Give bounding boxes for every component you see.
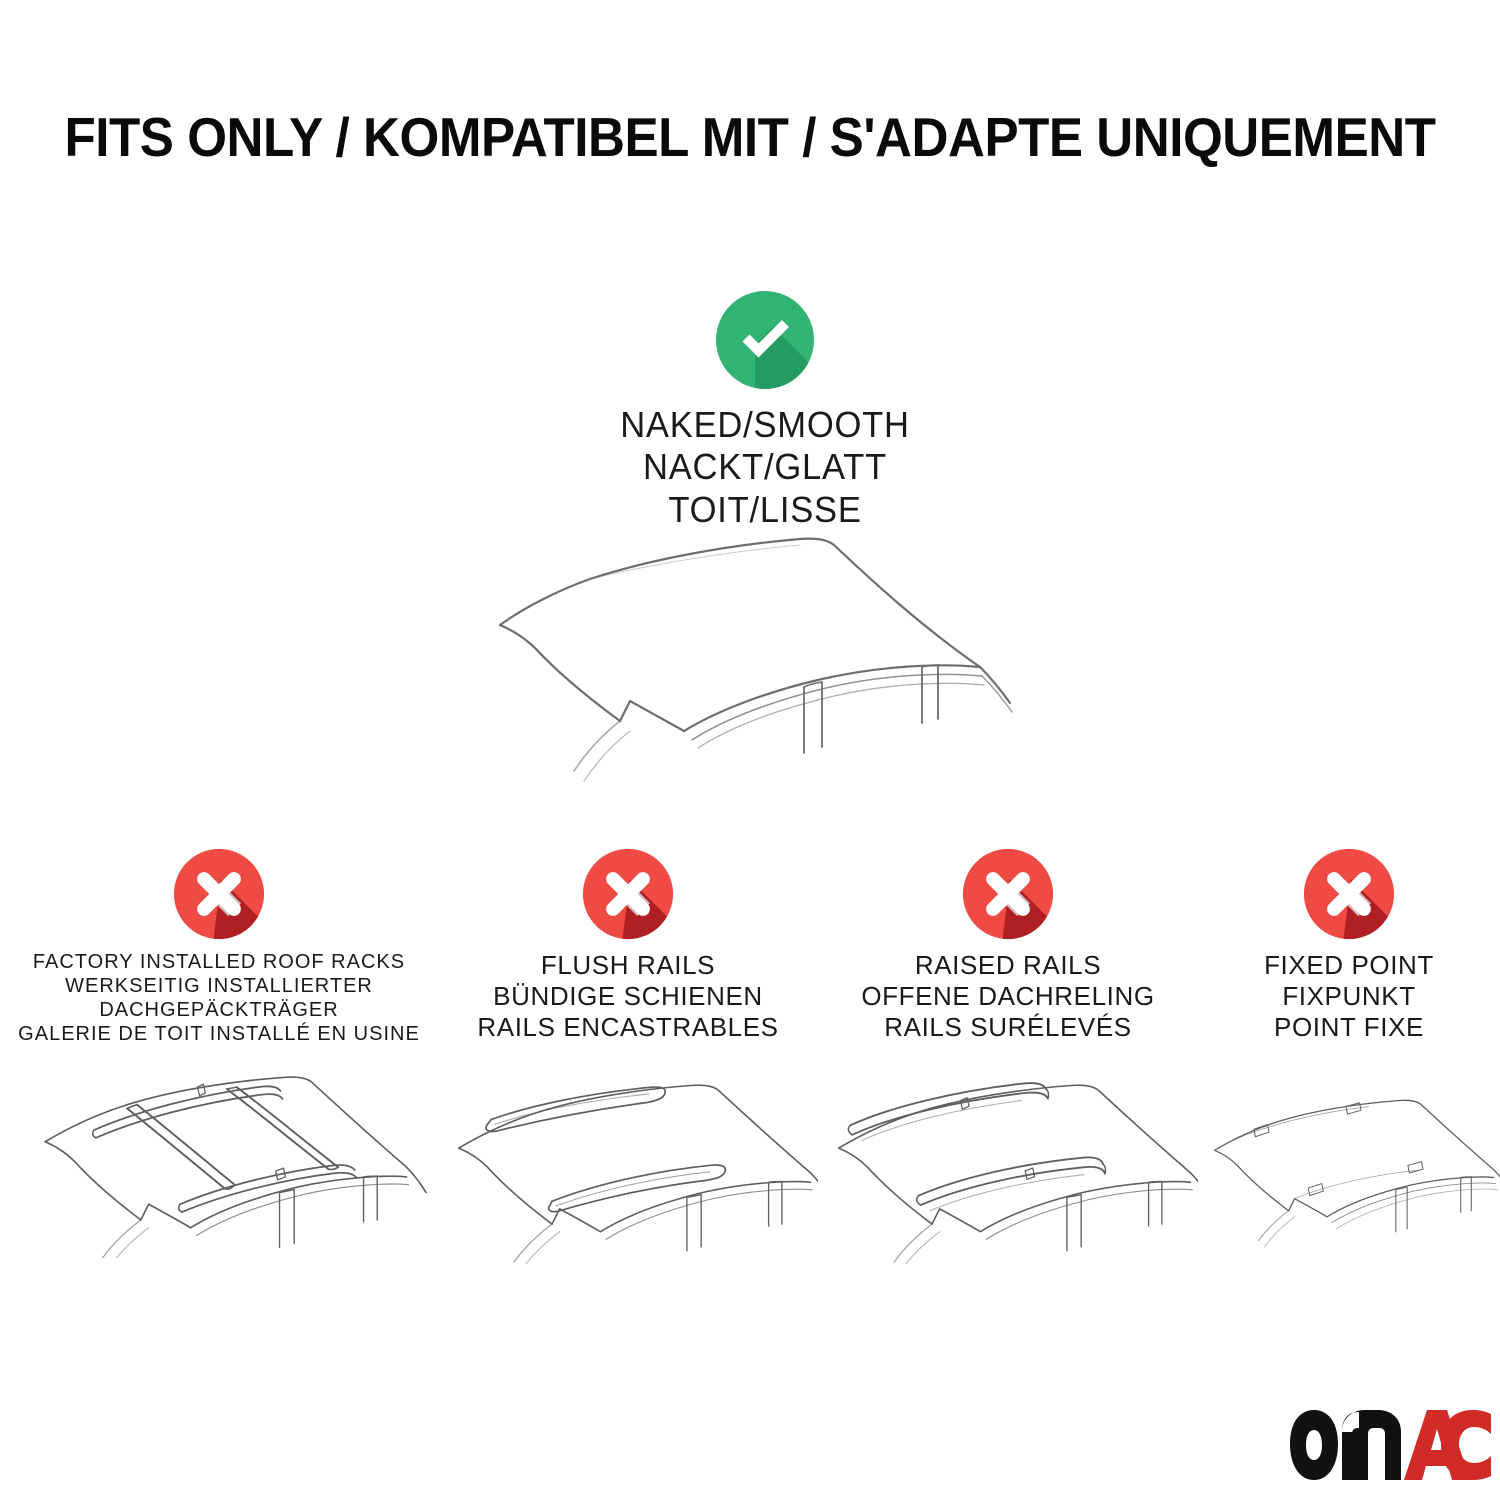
- cross-circle-icon: [173, 848, 265, 940]
- car-roof-flush-rails-illustration: [438, 1054, 818, 1264]
- compatible-roof-type: NAKED/SMOOTH NACKT/GLATT TOIT/LISSE: [450, 290, 1080, 531]
- car-roof-fixed-point-illustration: [1198, 1054, 1500, 1264]
- compatible-label-line-2: NACKT/GLATT: [463, 446, 1068, 488]
- label-line-3: POINT FIXE: [1198, 1012, 1500, 1043]
- cross-circle-icon: [962, 848, 1054, 940]
- logo-letter-o: [1290, 1410, 1338, 1480]
- label-line-2: BÜNDIGE SCHIENEN: [438, 981, 818, 1012]
- label-line-1: FLUSH RAILS: [438, 950, 818, 981]
- cross-circle-icon: [582, 848, 674, 940]
- label-line-3: RAILS SURÉLEVÉS: [818, 1012, 1198, 1043]
- compatible-label: NAKED/SMOOTH NACKT/GLATT TOIT/LISSE: [463, 404, 1068, 531]
- label-line-3: DACHGEPÄCKTRÄGER: [0, 998, 438, 1022]
- label-line-1: FIXED POINT: [1198, 950, 1500, 981]
- incompatible-label-flush-rails: FLUSH RAILS BÜNDIGE SCHIENEN RAILS ENCAS…: [438, 950, 818, 1044]
- car-roof-factory-rack-illustration: [0, 1048, 438, 1258]
- label-line-1: RAISED RAILS: [818, 950, 1198, 981]
- label-line-1: FACTORY INSTALLED ROOF RACKS: [0, 950, 438, 974]
- logo-letter-c: [1441, 1410, 1491, 1480]
- label-line-2: OFFENE DACHRELING: [818, 981, 1198, 1012]
- page-title: FITS ONLY / KOMPATIBEL MIT / S'ADAPTE UN…: [53, 105, 1448, 169]
- incompatible-item-raised-rails: RAISED RAILS OFFENE DACHRELING RAILS SUR…: [818, 848, 1198, 1044]
- car-roof-raised-rails-illustration: [818, 1054, 1198, 1264]
- compatible-label-line-1: NAKED/SMOOTH: [463, 404, 1068, 446]
- incompatible-item-flush-rails: FLUSH RAILS BÜNDIGE SCHIENEN RAILS ENCAS…: [438, 848, 818, 1044]
- label-line-2: FIXPUNKT: [1198, 981, 1500, 1012]
- label-line-4: GALERIE DE TOIT INSTALLÉ EN USINE: [0, 1022, 438, 1046]
- incompatible-item-factory-rack: FACTORY INSTALLED ROOF RACKS WERKSEITIG …: [0, 848, 438, 1046]
- logo-letter-m: [1342, 1410, 1401, 1480]
- label-line-3: RAILS ENCASTRABLES: [438, 1012, 818, 1043]
- omac-logo: [1288, 1406, 1493, 1484]
- fitment-infographic: FITS ONLY / KOMPATIBEL MIT / S'ADAPTE UN…: [0, 0, 1500, 1500]
- car-roof-naked-smooth-illustration: [470, 515, 1050, 805]
- incompatible-label-factory-rack: FACTORY INSTALLED ROOF RACKS WERKSEITIG …: [0, 950, 438, 1046]
- incompatible-label-fixed-point: FIXED POINT FIXPUNKT POINT FIXE: [1198, 950, 1500, 1044]
- check-circle-icon: [715, 290, 815, 390]
- incompatible-roof-types: FACTORY INSTALLED ROOF RACKS WERKSEITIG …: [0, 848, 1500, 1046]
- cross-circle-icon: [1303, 848, 1395, 940]
- incompatible-item-fixed-point: FIXED POINT FIXPUNKT POINT FIXE: [1198, 848, 1500, 1044]
- label-line-2: WERKSEITIG INSTALLIERTER: [0, 974, 438, 998]
- incompatible-label-raised-rails: RAISED RAILS OFFENE DACHRELING RAILS SUR…: [818, 950, 1198, 1044]
